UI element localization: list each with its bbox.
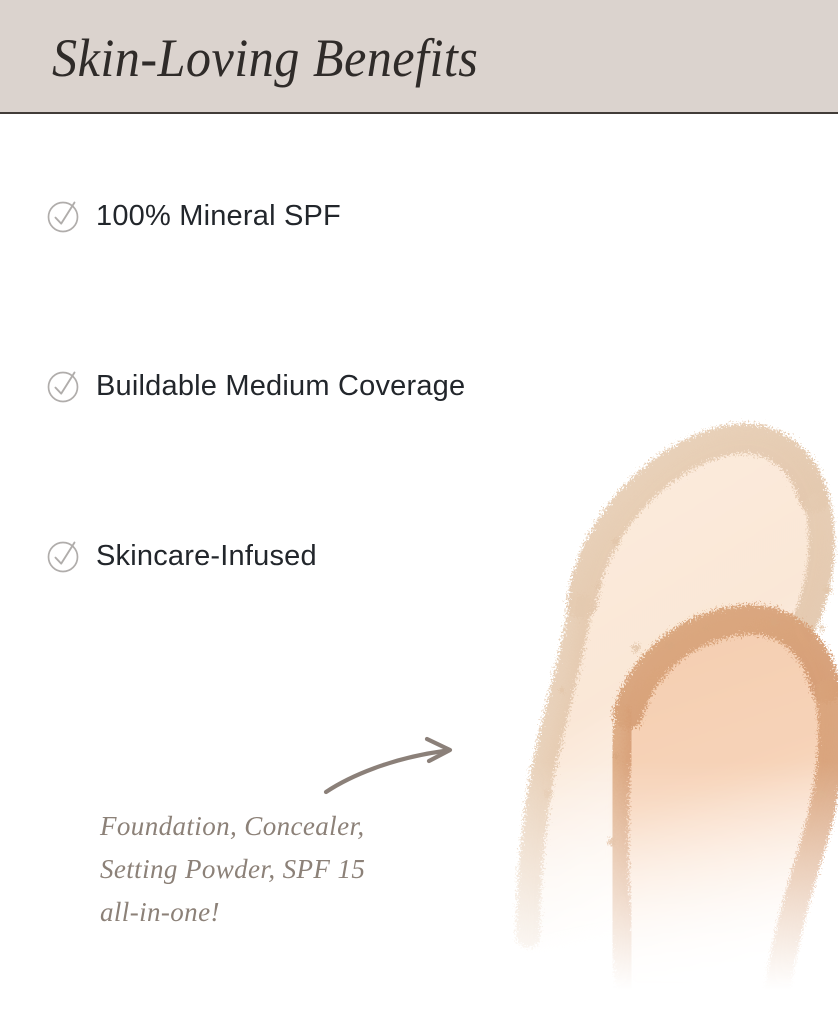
benefit-label: Buildable Medium Coverage [96,369,465,403]
check-circle-icon [46,199,80,233]
product-benefits-panel: Skin-Loving Benefits [0,0,838,1024]
check-circle-icon [46,539,80,573]
benefit-item-2: Skincare-Infused [46,534,317,578]
caption-line-1: Setting Powder, SPF 15 [100,848,460,891]
page-title: Skin-Loving Benefits [52,28,478,88]
benefit-item-0: 100% Mineral SPF [46,194,341,238]
header-band: Skin-Loving Benefits [0,0,838,114]
benefit-label: 100% Mineral SPF [96,199,341,233]
caption-line-2: all-in-one! [100,891,460,934]
powder-swatch-image [430,390,838,990]
benefit-item-1: Buildable Medium Coverage [46,364,465,408]
callout-caption: Foundation, Concealer, Setting Powder, S… [100,805,460,934]
curved-arrow-icon [310,730,480,810]
check-circle-icon [46,369,80,403]
benefit-label: Skincare-Infused [96,539,317,573]
caption-line-0: Foundation, Concealer, [100,805,460,848]
